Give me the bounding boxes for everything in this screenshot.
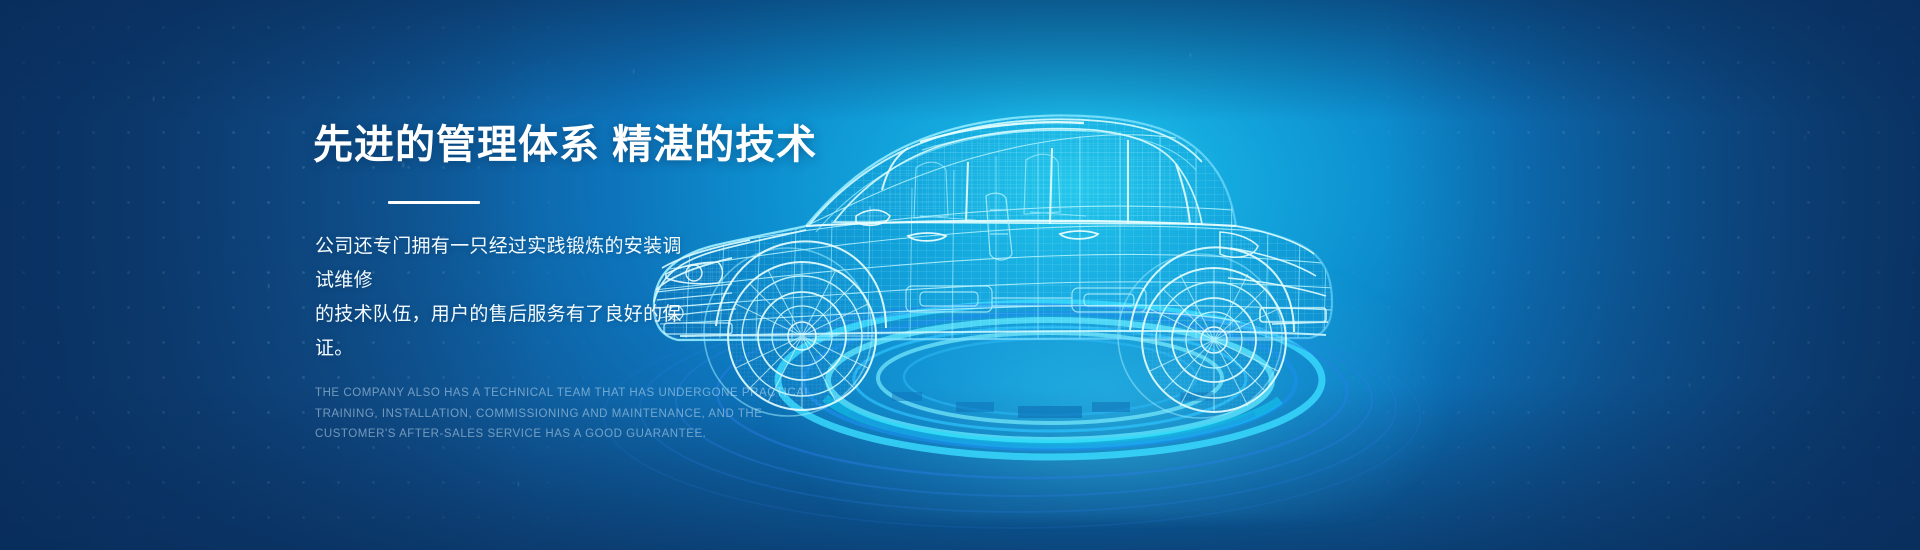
page-title: 先进的管理体系 精湛的技术 bbox=[313, 122, 953, 169]
description-line-2: 的技术队伍，用户的售后服务有了良好的保证。 bbox=[315, 298, 687, 366]
english-line-1: THE COMPANY ALSO HAS A TECHNICAL TEAM TH… bbox=[315, 383, 667, 403]
hero-banner: 先进的管理体系 精湛的技术 公司还专门拥有一只经过实践锻炼的安装调试维修 的技术… bbox=[0, 0, 1920, 550]
banner-copy: 先进的管理体系 精湛的技术 公司还专门拥有一只经过实践锻炼的安装调试维修 的技术… bbox=[313, 122, 953, 445]
background-vignette bbox=[0, 0, 1920, 550]
description-paragraph-english: THE COMPANY ALSO HAS A TECHNICAL TEAM TH… bbox=[315, 383, 667, 444]
english-line-2: TRAINING, INSTALLATION, COMMISSIONING AN… bbox=[315, 404, 667, 424]
description-paragraph: 公司还专门拥有一只经过实践锻炼的安装调试维修 的技术队伍，用户的售后服务有了良好… bbox=[315, 230, 687, 365]
description-line-1: 公司还专门拥有一只经过实践锻炼的安装调试维修 bbox=[315, 230, 687, 298]
english-line-3: CUSTOMER'S AFTER-SALES SERVICE HAS A GOO… bbox=[315, 424, 667, 444]
title-divider bbox=[388, 201, 480, 204]
